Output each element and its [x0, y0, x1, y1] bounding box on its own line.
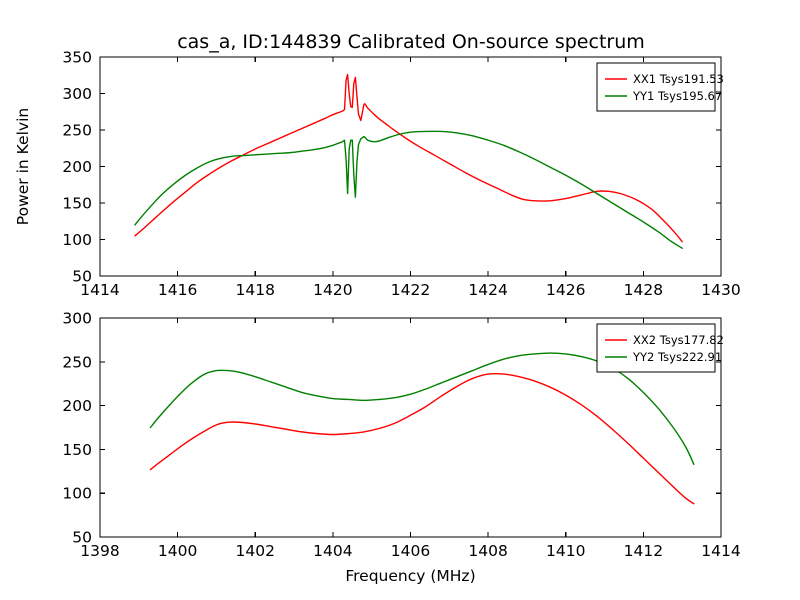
- series-line-xx: [150, 374, 693, 504]
- x-tick-label: 1402: [236, 542, 275, 560]
- x-tick-label: 1418: [236, 281, 275, 299]
- x-tick-label: 1410: [546, 542, 585, 560]
- x-axis-label: Frequency (MHz): [345, 567, 475, 585]
- x-tick-label: 1404: [313, 542, 352, 560]
- x-tick-label: 1414: [701, 542, 740, 560]
- y-tick-label: 100: [62, 485, 92, 503]
- legend-box: [597, 63, 715, 111]
- x-tick-label: 1422: [391, 281, 430, 299]
- y-tick-label: 350: [62, 49, 92, 67]
- x-tick-label: 1406: [391, 542, 430, 560]
- y-tick-label: 50: [72, 529, 92, 547]
- x-tick-label: 1426: [546, 281, 585, 299]
- y-tick-label: 250: [62, 353, 92, 371]
- panel-top: 1414141614181420142214241426142814305010…: [14, 49, 741, 300]
- y-tick-label: 50: [72, 268, 92, 286]
- x-tick-label: 1412: [624, 542, 663, 560]
- x-tick-label: 1420: [313, 281, 352, 299]
- y-tick-label: 100: [62, 231, 92, 249]
- y-tick-label: 250: [62, 122, 92, 140]
- x-tick-label: 1408: [468, 542, 507, 560]
- spectrum-figure: cas_a, ID:144839 Calibrated On-source sp…: [0, 0, 800, 600]
- legend-box: [597, 324, 715, 372]
- panel-bottom: 1398140014021404140614081410141214145010…: [62, 310, 740, 586]
- y-tick-label: 300: [62, 310, 92, 328]
- series-line-yy: [135, 131, 682, 248]
- y-tick-label: 150: [62, 441, 92, 459]
- legend-label: XX1 Tsys191.53: [633, 72, 724, 86]
- x-tick-label: 1430: [701, 281, 740, 299]
- x-tick-label: 1416: [158, 281, 197, 299]
- legend-label: XX2 Tsys177.82: [633, 333, 724, 347]
- x-tick-label: 1428: [624, 281, 663, 299]
- legend-label: YY1 Tsys195.67: [632, 89, 722, 103]
- spectrum-plot-canvas: cas_a, ID:144839 Calibrated On-source sp…: [0, 0, 800, 600]
- x-tick-label: 1424: [468, 281, 507, 299]
- y-tick-label: 300: [62, 85, 92, 103]
- y-tick-label: 200: [62, 158, 92, 176]
- y-axis-label: Power in Kelvin: [14, 108, 32, 225]
- legend-label: YY2 Tsys222.91: [632, 350, 722, 364]
- y-tick-label: 150: [62, 195, 92, 213]
- x-tick-label: 1400: [158, 542, 197, 560]
- page-title: cas_a, ID:144839 Calibrated On-source sp…: [177, 31, 645, 53]
- y-tick-label: 200: [62, 397, 92, 415]
